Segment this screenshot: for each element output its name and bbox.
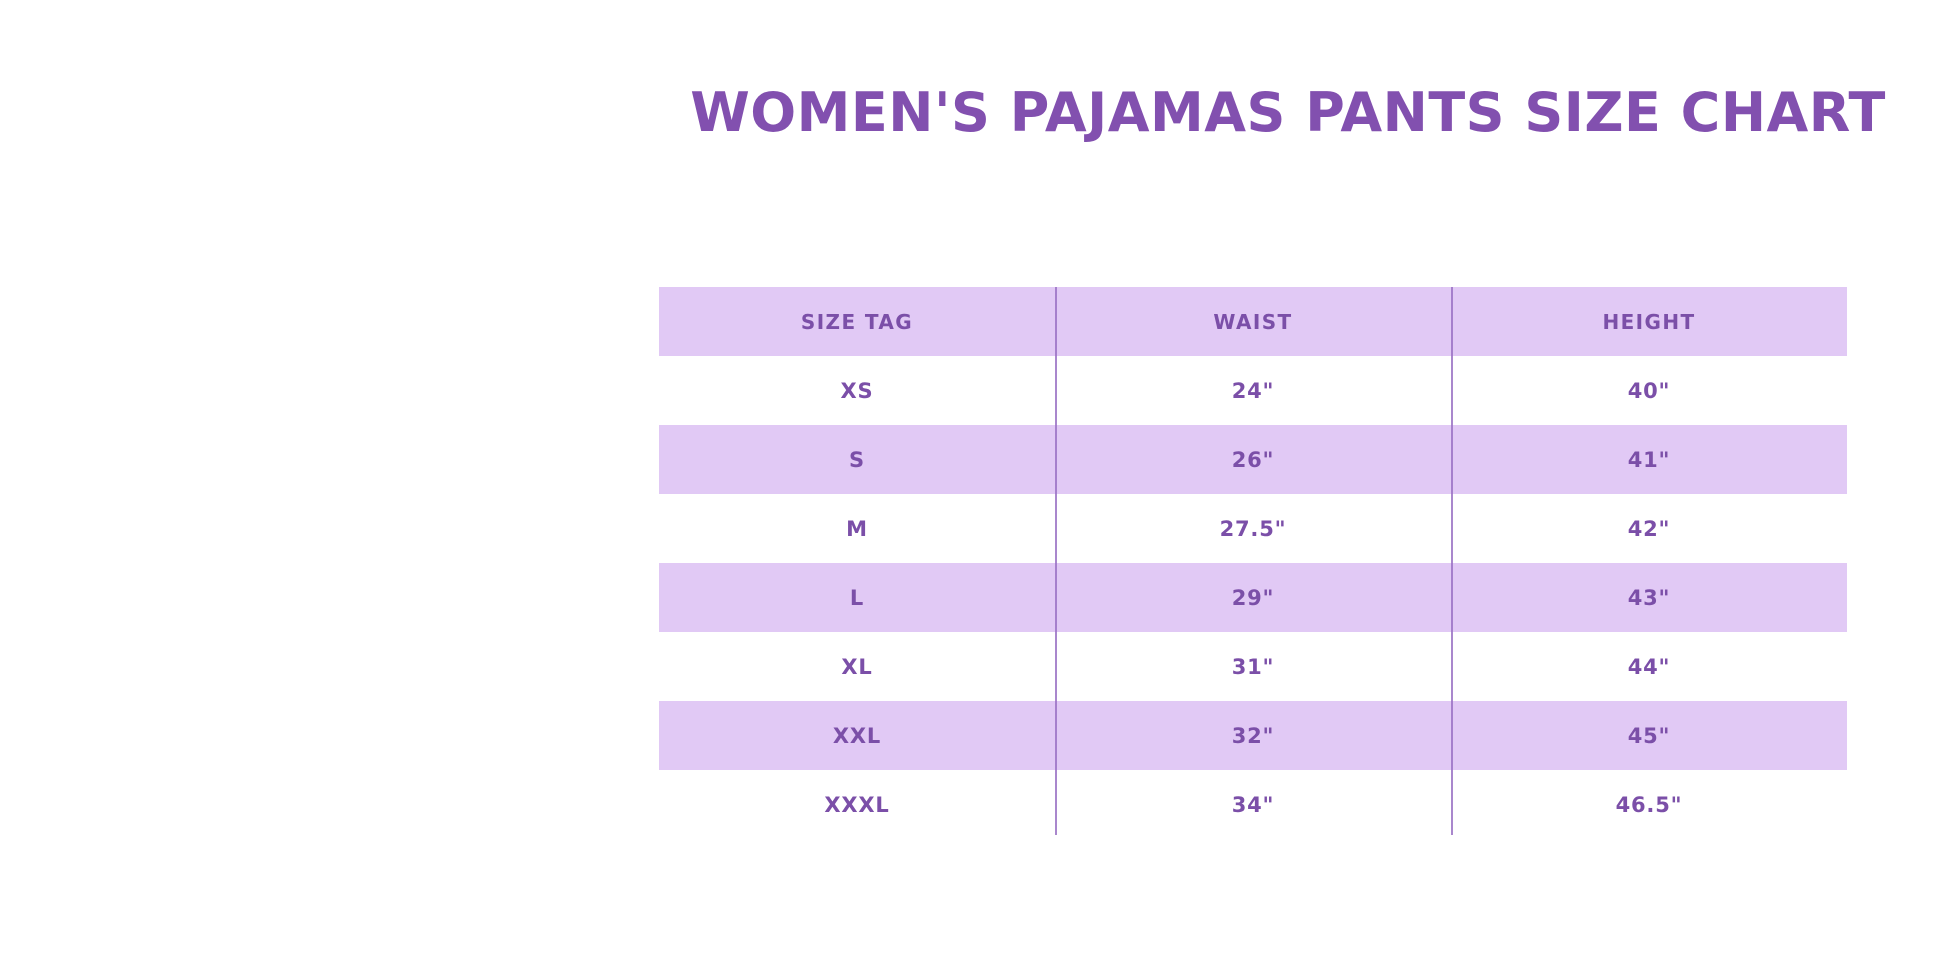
size-chart-page: WOMEN'S PAJAMAS PANTS SIZE CHART SIZE TA…	[0, 0, 1946, 973]
cell-waist: 24"	[1055, 356, 1451, 425]
column-divider-2	[1451, 287, 1453, 835]
column-header-height: HEIGHT	[1451, 287, 1847, 356]
cell-waist: 34"	[1055, 770, 1451, 839]
cell-height: 42"	[1451, 494, 1847, 563]
cell-waist: 27.5"	[1055, 494, 1451, 563]
table-row: XS 24" 40"	[659, 356, 1847, 425]
cell-waist: 31"	[1055, 632, 1451, 701]
table-row: L 29" 43"	[659, 563, 1847, 632]
table-body: XS 24" 40" S 26" 41" M 27.5" 42" L 29" 4…	[659, 356, 1847, 839]
table-row: XL 31" 44"	[659, 632, 1847, 701]
page-title: WOMEN'S PAJAMAS PANTS SIZE CHART	[659, 82, 1917, 144]
cell-size-tag: L	[659, 563, 1055, 632]
table-row: M 27.5" 42"	[659, 494, 1847, 563]
cell-height: 40"	[1451, 356, 1847, 425]
cell-waist: 29"	[1055, 563, 1451, 632]
column-header-size-tag: SIZE TAG	[659, 287, 1055, 356]
cell-size-tag: M	[659, 494, 1055, 563]
cell-height: 41"	[1451, 425, 1847, 494]
cell-height: 46.5"	[1451, 770, 1847, 839]
column-header-waist: WAIST	[1055, 287, 1451, 356]
table-row: XXXL 34" 46.5"	[659, 770, 1847, 839]
cell-height: 43"	[1451, 563, 1847, 632]
cell-size-tag: XS	[659, 356, 1055, 425]
cell-size-tag: XXL	[659, 701, 1055, 770]
table-header: SIZE TAG WAIST HEIGHT	[659, 287, 1847, 356]
cell-size-tag: XL	[659, 632, 1055, 701]
cell-waist: 32"	[1055, 701, 1451, 770]
cell-size-tag: XXXL	[659, 770, 1055, 839]
cell-waist: 26"	[1055, 425, 1451, 494]
column-divider-1	[1055, 287, 1057, 835]
cell-height: 44"	[1451, 632, 1847, 701]
size-chart-table: SIZE TAG WAIST HEIGHT XS 24" 40" S 26" 4…	[659, 287, 1847, 839]
cell-height: 45"	[1451, 701, 1847, 770]
table-header-row: SIZE TAG WAIST HEIGHT	[659, 287, 1847, 356]
table-row: S 26" 41"	[659, 425, 1847, 494]
cell-size-tag: S	[659, 425, 1055, 494]
table-row: XXL 32" 45"	[659, 701, 1847, 770]
